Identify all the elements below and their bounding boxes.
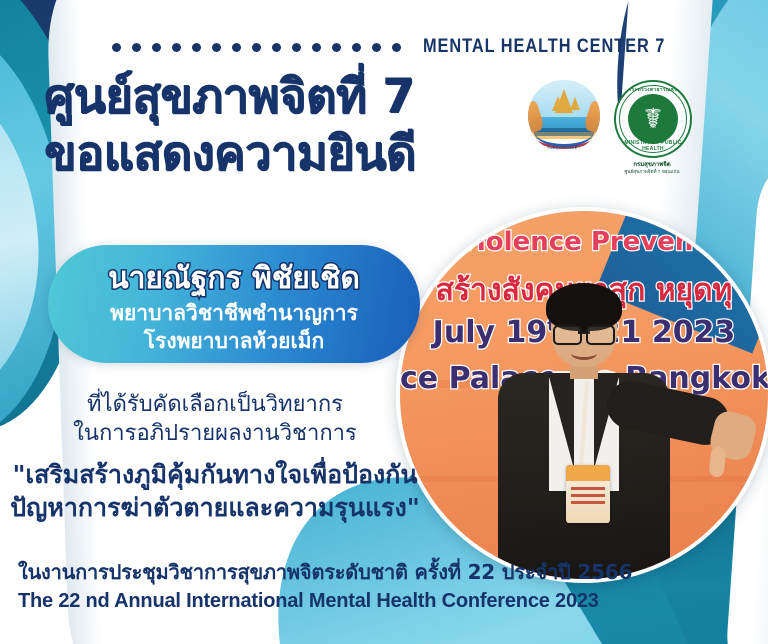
moph-seal-icon: กระทรวงสาธารณสุข ☤ MINISTRY OF PUBLIC HE…: [614, 80, 692, 158]
figure-smile: [571, 347, 597, 360]
footer: ในงานการประชุมวิชาการสุขภาพจิตระดับชาติ …: [18, 557, 632, 616]
dot-icon: [212, 43, 221, 52]
body-quote-line-2: ปัญหาการฆ่าตัวตายและความรุนแรง": [0, 491, 430, 525]
dot-icon: [312, 43, 321, 52]
figure-hair: [546, 283, 622, 331]
dot-icon: [252, 43, 261, 52]
honoree-photo: r Violence Preventio สร้างสังคมผาสุก หยุ…: [396, 207, 768, 583]
moph-caption-line-2: ศูนย์สุขภาพจิตที่ 7 ขอนแก่น: [614, 169, 690, 175]
dot-icon: [112, 43, 121, 52]
dot-icon: [232, 43, 241, 52]
logo-arc-blue: [534, 115, 595, 147]
dot-icon: [292, 43, 301, 52]
left-teal-dark-swoosh: [0, 0, 108, 438]
honoree-organization: โรงพยาบาลห้วยเม็ก: [48, 325, 420, 358]
logo-group: ศูนย์สุขภาพจิตที่ 7 กระทรวงสาธารณสุข ☤ M…: [528, 80, 690, 175]
dot-icon: [152, 43, 161, 52]
footer-line-thai: ในงานการประชุมวิชาการสุขภาพจิตระดับชาติ …: [18, 557, 632, 587]
moph-inner-disc: ☤: [628, 94, 678, 144]
body-line-1: ที่ได้รับคัดเลือกเป็นวิทยากร: [0, 390, 430, 419]
dot-icon: [192, 43, 201, 52]
ministry-of-public-health-logo: กระทรวงสาธารณสุข ☤ MINISTRY OF PUBLIC HE…: [614, 80, 690, 175]
caduceus-icon: ☤: [644, 105, 663, 133]
figure-lapel-left: [548, 373, 574, 469]
figure-pointing-finger: [708, 446, 726, 477]
dot-icon: [352, 43, 361, 52]
moph-caption: กรมสุขภาพจิต ศูนย์สุขภาพจิตที่ 7 ขอนแก่น: [614, 161, 690, 175]
mental-health-center-logo-icon: ศูนย์สุขภาพจิตที่ 7: [528, 80, 600, 152]
headline-line-2: ขอแสดงความยินดี: [44, 131, 416, 176]
left-pale-swoosh: [0, 65, 47, 414]
dot-icon: [272, 43, 281, 52]
backdrop-text-line-1: r Violence Preventio: [400, 227, 768, 257]
dot-icon: [172, 43, 181, 52]
congratulation-poster: MENTAL HEALTH CENTER 7 ศูนย์สุขภาพจิตที่…: [0, 0, 768, 644]
footer-line-english: The 22 nd Annual International Mental He…: [18, 587, 632, 616]
honoree-name: นายณัฐกร พิชัยเชิด: [48, 255, 420, 302]
page-title: ศูนย์สุขภาพจิตที่ 7 ขอแสดงความยินดี: [44, 74, 416, 176]
body-line-2: ในการอภิปรายผลงานวิชาการ: [0, 419, 430, 448]
eyebrow-label: MENTAL HEALTH CENTER 7: [423, 36, 665, 58]
dot-icon: [372, 43, 381, 52]
moph-seal-bottom-label: MINISTRY OF PUBLIC HEALTH: [616, 140, 690, 152]
glasses-icon: [553, 325, 615, 342]
logo-caption: ศูนย์สุขภาพจิตที่ 7: [528, 144, 600, 151]
dot-row: [112, 43, 401, 52]
figure-name-badge: [566, 465, 610, 523]
headline-line-1: ศูนย์สุขภาพจิตที่ 7: [44, 74, 416, 119]
dot-icon: [332, 43, 341, 52]
body-text: ที่ได้รับคัดเลือกเป็นวิทยากร ในการอภิปรา…: [0, 390, 430, 525]
dot-icon: [132, 43, 141, 52]
eyebrow-row: MENTAL HEALTH CENTER 7: [112, 36, 705, 58]
dot-icon: [392, 43, 401, 52]
body-quote-line-1: "เสริมสร้างภูมิคุ้มกันทางใจเพื่อป้องกัน: [0, 458, 430, 492]
moph-seal-top-label: กระทรวงสาธารณสุข: [616, 86, 690, 94]
honoree-name-banner: นายณัฐกร พิชัยเชิด พยาบาลวิชาชีพชำนาญการ…: [48, 245, 420, 363]
logo-temple-right: [570, 97, 580, 110]
honoree-figure: [434, 285, 734, 583]
moph-caption-line-1: กรมสุขภาพจิต: [614, 161, 690, 169]
